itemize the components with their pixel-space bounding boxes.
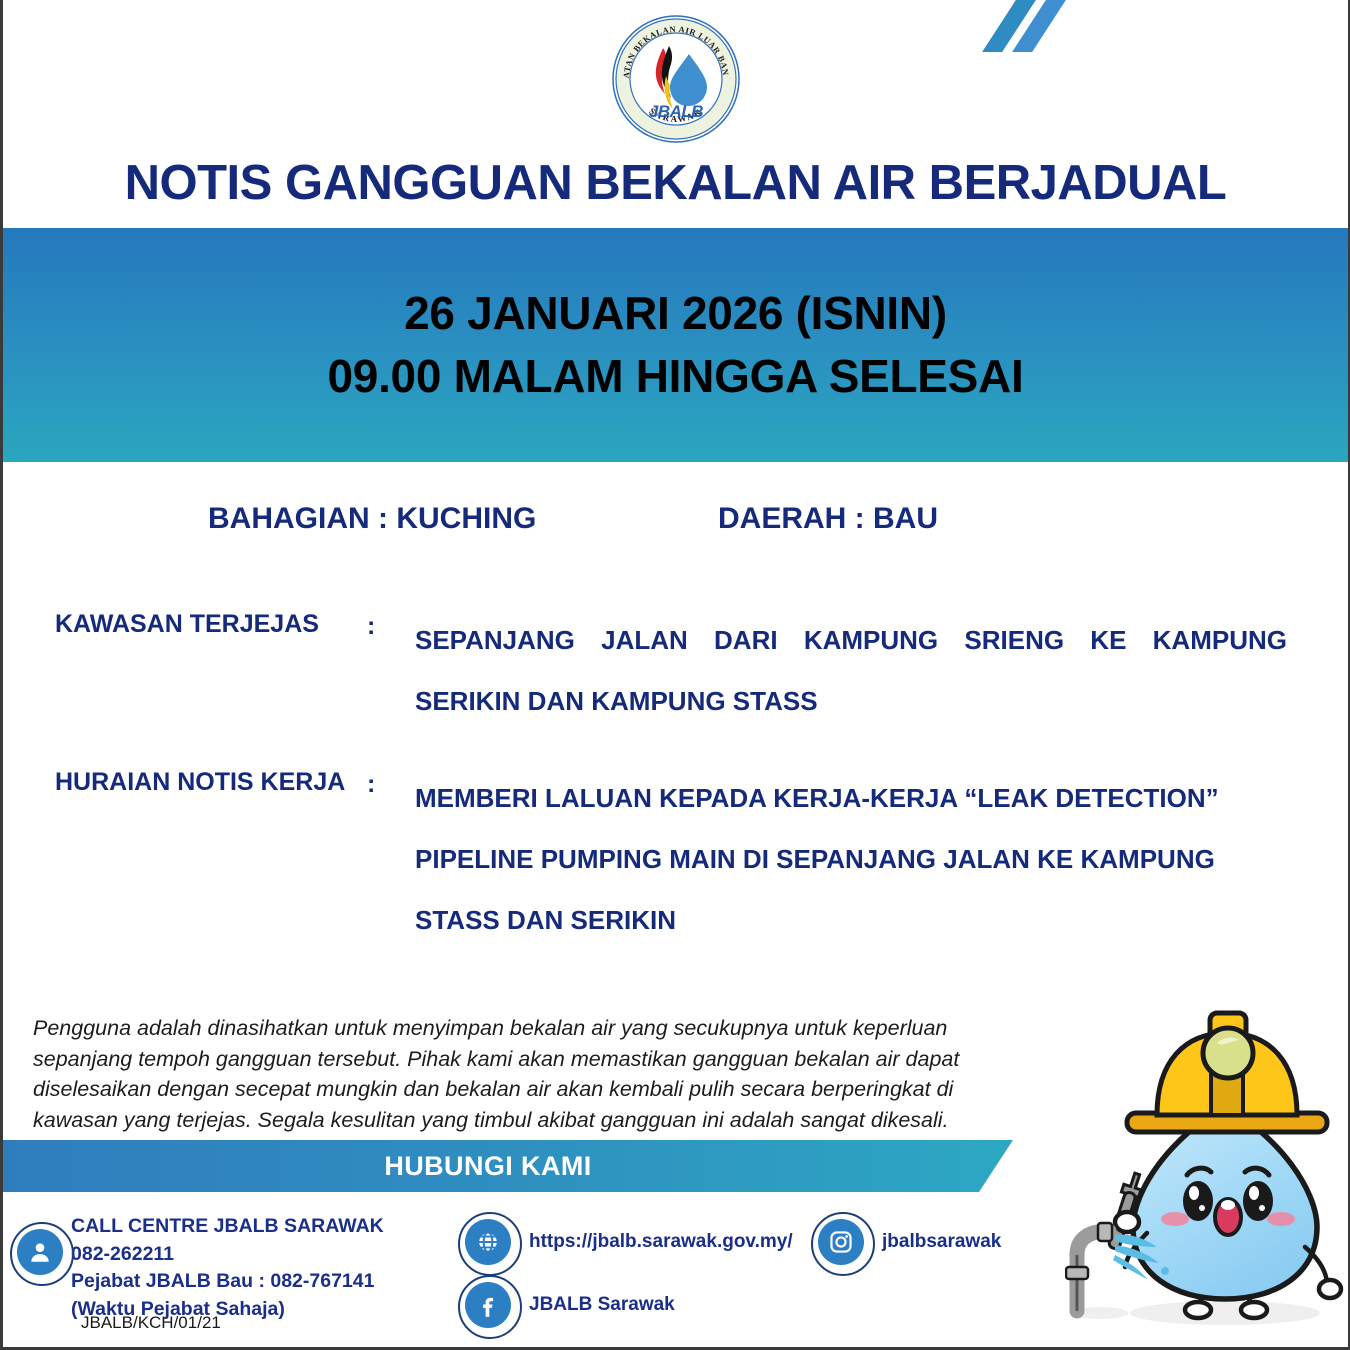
reference-number: JBALB/KCH/01/21 <box>81 1313 221 1333</box>
water-droplet-worker-mascot <box>1065 995 1350 1347</box>
affected-area-label: KAWASAN TERJEJAS <box>55 610 367 637</box>
office-phone: Pejabat JBALB Bau : 082-767141 <box>71 1268 384 1296</box>
call-centre-text: CALL CENTRE JBALB SARAWAK 082-262211 Pej… <box>71 1213 384 1324</box>
contact-banner: HUBUNGI KAMI <box>3 1140 1013 1192</box>
work-description-value: MEMBERI LALUAN KEPADA KERJA-KERJA “LEAK … <box>415 768 1295 951</box>
instagram-handle[interactable]: jbalbsarawak <box>882 1231 1001 1253</box>
person-icon-holder <box>17 1213 63 1275</box>
affected-area-value: SEPANJANG JALAN DARI KAMPUNG SRIENG KE K… <box>415 610 1287 732</box>
advisory-text: Pengguna adalah dinasihatkan untuk menyi… <box>33 1013 993 1135</box>
work-description-row: HURAIAN NOTIS KERJA : MEMBERI LALUAN KEP… <box>55 768 1305 951</box>
work-description-line-3: STASS DAN SERIKIN <box>415 890 1295 951</box>
region-row: BAHAGIAN : KUCHING DAERAH : BAU <box>208 502 1108 536</box>
call-centre-name: CALL CENTRE JBALB SARAWAK <box>71 1213 384 1241</box>
affected-area-line-2: SERIKIN DAN KAMPUNG STASS <box>415 671 1287 732</box>
affected-area-line-1: SEPANJANG JALAN DARI KAMPUNG SRIENG KE K… <box>415 610 1287 671</box>
call-centre-block: CALL CENTRE JBALB SARAWAK 082-262211 Pej… <box>17 1213 384 1324</box>
facebook-icon[interactable] <box>465 1282 511 1328</box>
website-row[interactable]: https://jbalb.sarawak.gov.my/ <box>465 1219 793 1265</box>
notice-time: 09.00 MALAM HINGGA SELESAI <box>328 348 1024 406</box>
person-icon <box>17 1229 63 1275</box>
facebook-row[interactable]: JBALB Sarawak <box>465 1282 675 1328</box>
work-description-label: HURAIAN NOTIS KERJA <box>55 768 367 795</box>
affected-area-colon: : <box>367 610 415 641</box>
district-label: DAERAH : BAU <box>718 502 938 536</box>
notice-page: JABATAN BEKALAN AIR LUAR BANDAR SARAWAK … <box>0 0 1350 1350</box>
date-banner: 26 JANUARI 2026 (ISNIN) 09.00 MALAM HING… <box>3 228 1348 462</box>
instagram-row[interactable]: jbalbsarawak <box>818 1219 1001 1265</box>
instagram-icon[interactable] <box>818 1219 864 1265</box>
call-centre-phone: 082-262211 <box>71 1241 384 1269</box>
facebook-handle[interactable]: JBALB Sarawak <box>529 1294 675 1316</box>
work-description-colon: : <box>367 768 415 799</box>
work-description-line-2: PIPELINE PUMPING MAIN DI SEPANJANG JALAN… <box>415 829 1295 890</box>
division-label: BAHAGIAN : KUCHING <box>208 502 718 536</box>
contact-banner-title: HUBUNGI KAMI <box>3 1140 973 1192</box>
website-url[interactable]: https://jbalb.sarawak.gov.my/ <box>529 1231 793 1253</box>
work-description-line-1: MEMBERI LALUAN KEPADA KERJA-KERJA “LEAK … <box>415 768 1295 829</box>
globe-icon[interactable] <box>465 1219 511 1265</box>
jbalb-logo: JABATAN BEKALAN AIR LUAR BANDAR SARAWAK … <box>611 14 741 144</box>
svg-text:JBALB: JBALB <box>648 102 702 121</box>
affected-area-row: KAWASAN TERJEJAS : SEPANJANG JALAN DARI … <box>55 610 1305 732</box>
notice-date: 26 JANUARI 2026 (ISNIN) <box>404 285 947 343</box>
page-title: NOTIS GANGGUAN BEKALAN AIR BERJADUAL <box>3 155 1348 211</box>
